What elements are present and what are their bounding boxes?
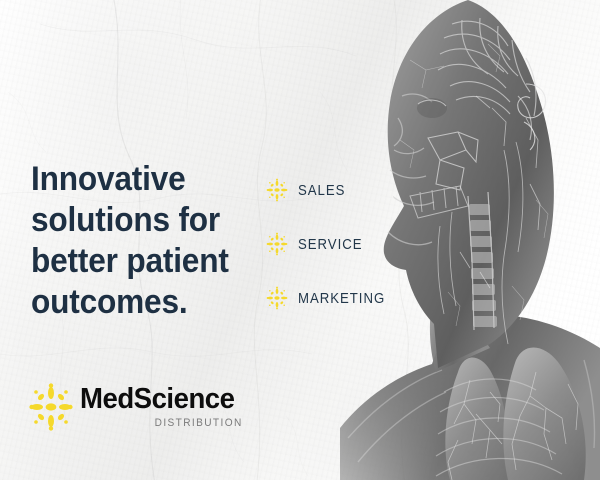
starburst-icon <box>266 231 288 257</box>
medscience-starburst-logo-icon <box>29 383 73 431</box>
promotional-banner: Innovative solutions for better patient … <box>0 0 600 480</box>
feature-label: SALES <box>298 182 345 199</box>
feature-item-service[interactable]: SERVICE <box>266 217 416 271</box>
feature-item-sales[interactable]: SALES <box>266 163 416 217</box>
starburst-icon <box>266 285 288 311</box>
headline: Innovative solutions for better patient … <box>31 159 254 323</box>
feature-list: SALES <box>266 163 416 325</box>
logo-name: MedScience <box>80 385 235 414</box>
eye-socket <box>417 98 447 118</box>
logo-text: MedScience DISTRIBUTION <box>80 385 243 429</box>
feature-item-marketing[interactable]: MARKETING <box>266 271 416 325</box>
feature-label: SERVICE <box>298 236 362 253</box>
feature-label: MARKETING <box>298 290 385 307</box>
starburst-icon <box>266 177 288 203</box>
logo[interactable]: MedScience DISTRIBUTION <box>29 383 243 431</box>
logo-subtitle: DISTRIBUTION <box>93 417 243 429</box>
